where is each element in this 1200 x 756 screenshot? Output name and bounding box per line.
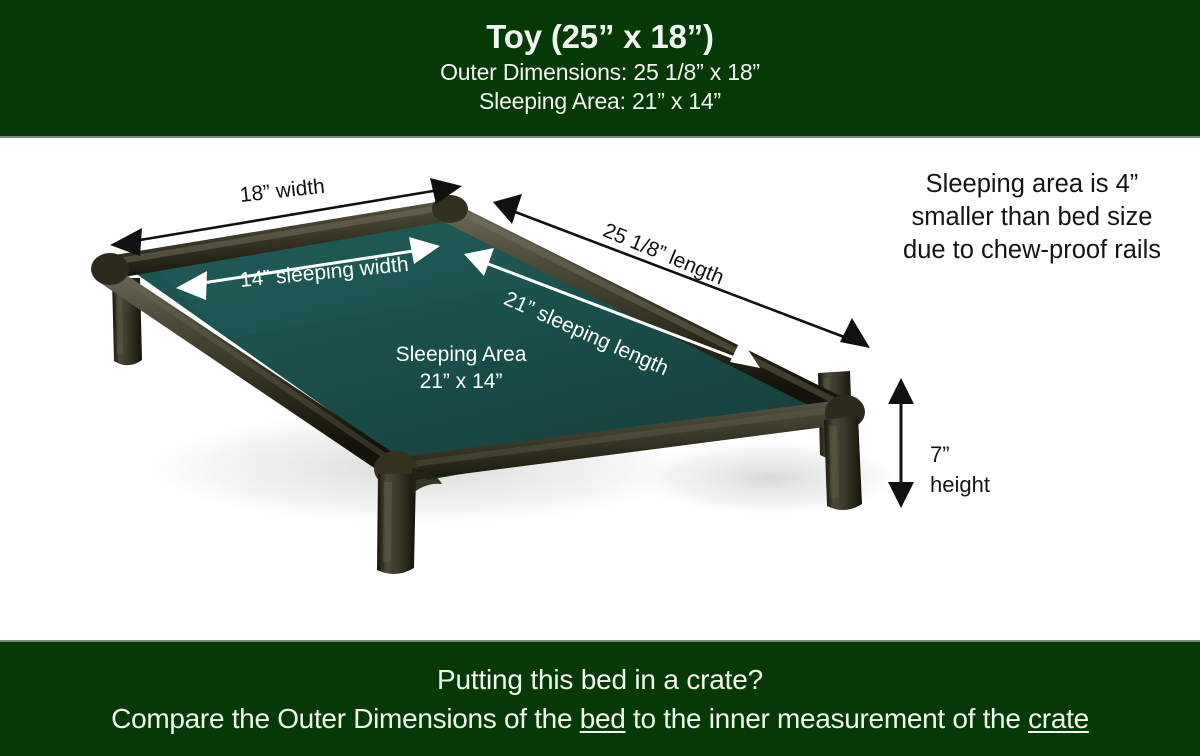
chew-proof-note: Sleeping area is 4” smaller than bed siz…	[872, 168, 1192, 267]
footer-text-part-1: Compare the Outer Dimensions of the	[111, 703, 580, 734]
sleeping-area-caption-line-1: Sleeping Area	[376, 342, 546, 369]
note-line-1: Sleeping area is 4”	[872, 168, 1192, 201]
label-height: 7” height	[930, 440, 1040, 499]
frame-corner-left	[91, 253, 129, 285]
page-title: Toy (25” x 18”)	[486, 19, 713, 56]
bed-leg-front	[377, 474, 416, 574]
label-height-word: height	[930, 470, 1040, 500]
dimension-arrow-height	[888, 378, 914, 508]
dog-bed-dimension-infographic: Toy (25” x 18”) Outer Dimensions: 25 1/8…	[0, 0, 1200, 756]
footer-instruction: Compare the Outer Dimensions of the bed …	[111, 701, 1089, 736]
label-height-value: 7”	[930, 440, 1040, 470]
sleeping-area-caption: Sleeping Area 21” x 14”	[376, 342, 546, 396]
note-line-3: due to chew-proof rails	[872, 234, 1192, 267]
footer-question: Putting this bed in a crate?	[437, 662, 763, 697]
sleeping-area-caption-line-2: 21” x 14”	[376, 369, 546, 396]
footer-word-bed: bed	[580, 703, 626, 734]
footer-word-crate: crate	[1028, 703, 1089, 734]
outer-dimensions-text: Outer Dimensions: 25 1/8” x 18”	[440, 58, 760, 88]
sleeping-area-text: Sleeping Area: 21” x 14”	[479, 87, 721, 117]
bed-leg-right-front	[824, 416, 862, 510]
footer-text-part-2: to the inner measurement of the	[626, 703, 1029, 734]
header-banner: Toy (25” x 18”) Outer Dimensions: 25 1/8…	[0, 0, 1200, 138]
note-line-2: smaller than bed size	[872, 201, 1192, 234]
floor-shadow-right	[630, 438, 910, 518]
diagram-stage: Sleeping area is 4” smaller than bed siz…	[0, 138, 1200, 640]
footer-banner: Putting this bed in a crate? Compare the…	[0, 640, 1200, 756]
